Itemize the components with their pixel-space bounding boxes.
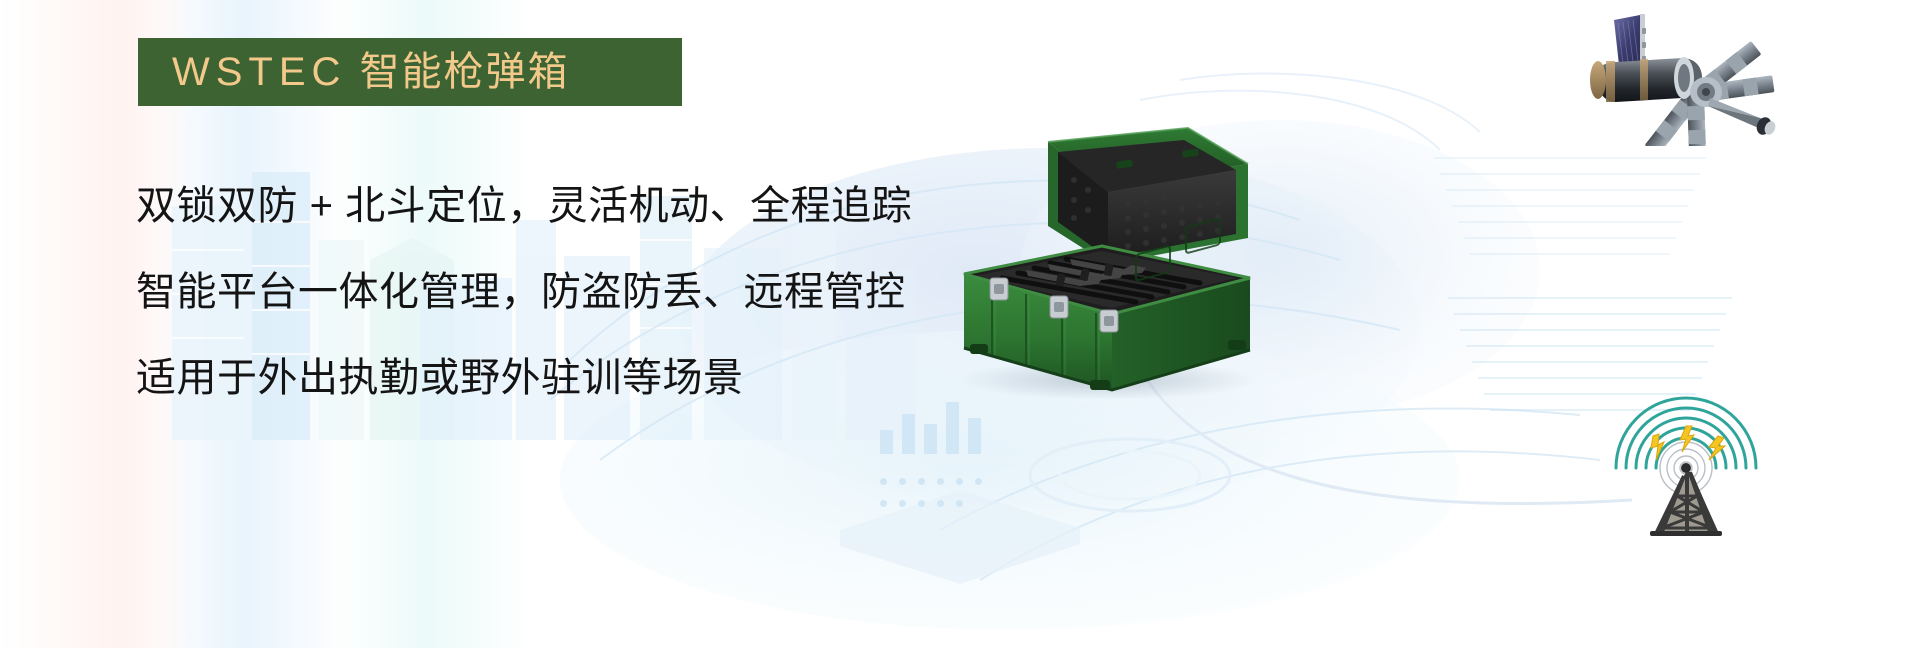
satellite-antenna-boom [1708,98,1777,137]
feature-line-3: 适用于外出执勤或野外驻训等场景 [136,358,912,398]
signal-tower-icon [1596,356,1776,536]
page-title: WSTEC 智能枪弹箱 [172,52,570,92]
background-dot-row-1 [880,478,982,485]
title-chinese: 智能枪弹箱 [360,50,570,94]
title-banner: WSTEC 智能枪弹箱 [138,38,682,106]
background-grid-panel-upper [1430,150,1710,270]
satellite-icon [1578,6,1793,146]
background-bar-chart [880,398,981,454]
tower-structure [1650,472,1722,536]
promo-banner-stage: WSTEC 智能枪弹箱 双锁双防 + 北斗定位，灵活机动、全程追踪 智能平台一体… [0,0,1920,648]
background-dot-row-2 [880,500,963,507]
signal-emitter-dot [1681,463,1691,473]
feature-line-2: 智能平台一体化管理，防盗防丢、远程管控 [136,272,912,312]
case-lid [1048,128,1248,264]
feature-list: 双锁双防 + 北斗定位，灵活机动、全程追踪 智能平台一体化管理，防盗防丢、远程管… [136,186,912,398]
feature-line-1: 双锁双防 + 北斗定位，灵活机动、全程追踪 [136,186,912,226]
rugged-gun-case-image [930,118,1280,398]
title-latin: WSTEC [172,50,346,94]
lightning-bolts [1651,426,1725,460]
background-ring-accent [1020,420,1240,530]
satellite-body [1590,57,1702,102]
